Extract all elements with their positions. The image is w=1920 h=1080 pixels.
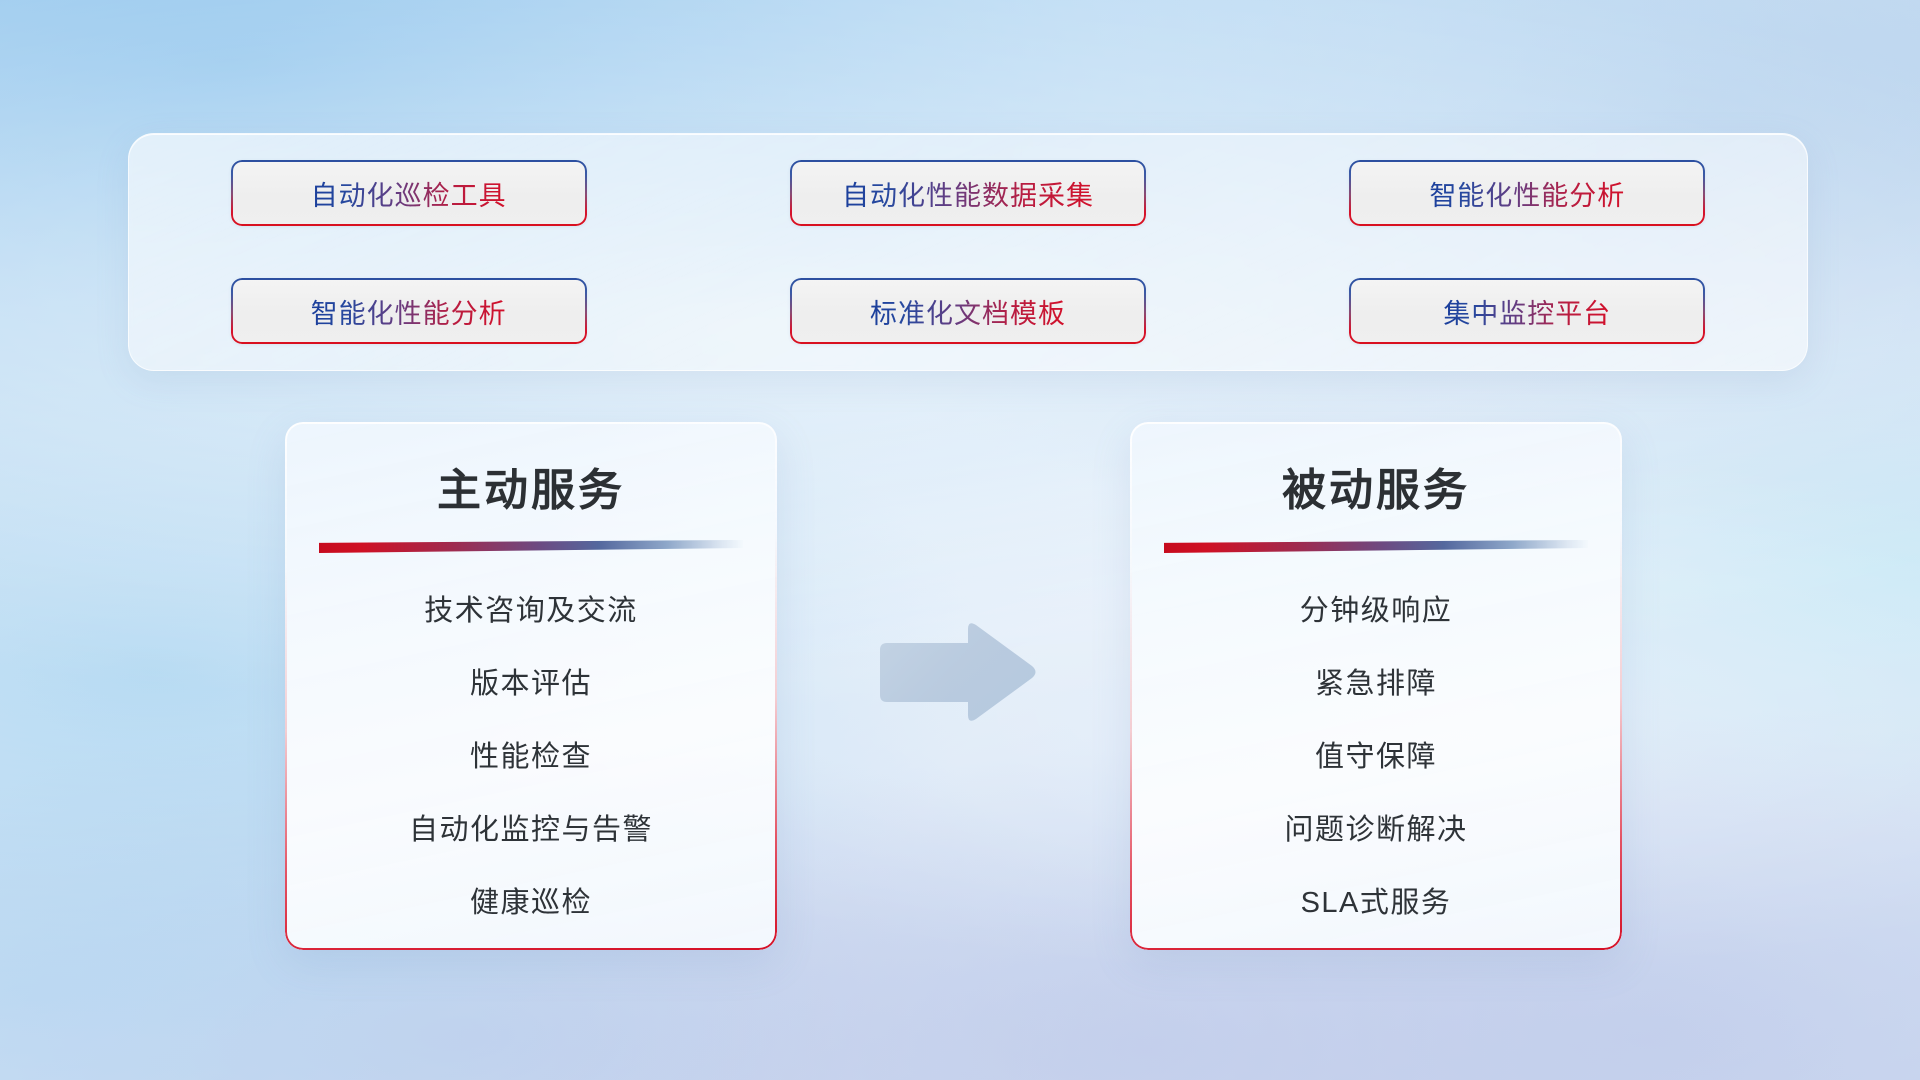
service-item: 分钟级响应 <box>1130 597 1622 626</box>
service-item: 健康巡检 <box>285 889 777 918</box>
service-card-passive: 被动服务 分钟级响应 紧急排障 值守保障 问题诊断解决 SLA式服务 <box>1130 422 1622 950</box>
capability-pill-label: 标准化文档模板 <box>870 292 1066 331</box>
service-item-list: 技术咨询及交流 版本评估 性能检查 自动化监控与告警 健康巡检 <box>285 597 777 918</box>
capability-pill-label: 自动化性能数据采集 <box>842 174 1094 213</box>
capability-pill-label: 智能化性能分析 <box>311 292 507 331</box>
service-item-list: 分钟级响应 紧急排障 值守保障 问题诊断解决 SLA式服务 <box>1130 597 1622 918</box>
capability-pill-6[interactable]: 集中监控平台 <box>1349 278 1705 344</box>
service-card-title: 主动服务 <box>285 454 777 518</box>
capability-pill-1[interactable]: 自动化巡检工具 <box>231 160 587 226</box>
capability-pill-2[interactable]: 自动化性能数据采集 <box>790 160 1146 226</box>
capability-pill-label: 智能化性能分析 <box>1429 174 1625 213</box>
capability-pill-5[interactable]: 标准化文档模板 <box>790 278 1146 344</box>
service-card-title: 被动服务 <box>1130 454 1622 518</box>
right-arrow-icon <box>872 618 1040 728</box>
capability-pill-3[interactable]: 智能化性能分析 <box>1349 160 1705 226</box>
capability-pill-label: 自动化巡检工具 <box>311 174 507 213</box>
service-item: 版本评估 <box>285 670 777 699</box>
service-item: 自动化监控与告警 <box>285 816 777 845</box>
service-item: 紧急排障 <box>1130 670 1622 699</box>
title-divider <box>1164 540 1588 553</box>
title-divider <box>319 540 743 553</box>
service-item: 性能检查 <box>285 743 777 772</box>
service-item: 问题诊断解决 <box>1130 816 1622 845</box>
capability-pill-label: 集中监控平台 <box>1443 292 1611 331</box>
service-item: 技术咨询及交流 <box>285 597 777 626</box>
service-item: SLA式服务 <box>1130 889 1622 918</box>
capability-pill-4[interactable]: 智能化性能分析 <box>231 278 587 344</box>
service-card-active: 主动服务 技术咨询及交流 版本评估 性能检查 自动化监控与告警 健康巡检 <box>285 422 777 950</box>
service-item: 值守保障 <box>1130 743 1622 772</box>
capability-panel: 自动化巡检工具 自动化性能数据采集 智能化性能分析 智能化性能分析 标准化文档模… <box>128 133 1808 371</box>
